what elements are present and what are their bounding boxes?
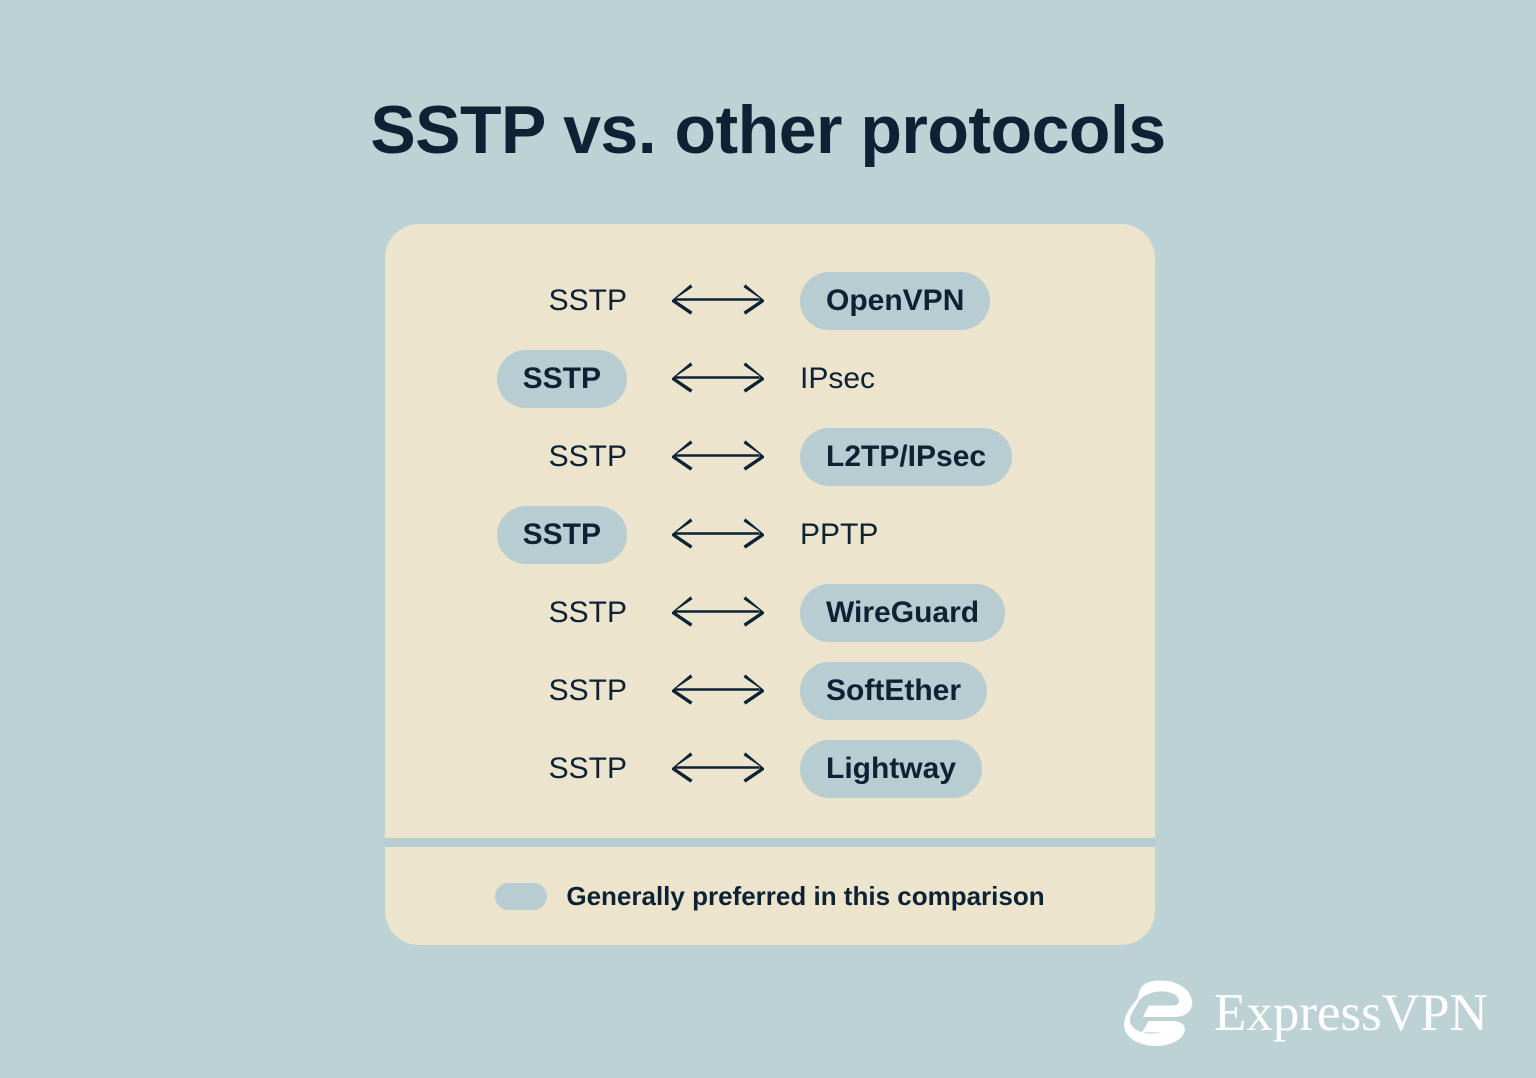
double-headed-arrow-icon <box>672 440 764 474</box>
double-headed-arrow-icon <box>672 518 764 552</box>
comparison-row-left-cell: SSTP <box>385 272 635 330</box>
legend: Generally preferred in this comparison <box>385 847 1155 945</box>
comparison-row-list: SSTPOpenVPNSSTPIPsecSSTPL2TP/IPsecSSTPPP… <box>385 224 1155 808</box>
comparison-row-right-cell: SoftEther <box>800 662 1155 720</box>
comparison-row: SSTPWireGuard <box>385 574 1155 652</box>
double-headed-arrow-icon <box>672 752 764 786</box>
pill-swatch-icon <box>495 883 547 910</box>
protocol-chip: IPsec <box>800 350 875 408</box>
protocol-chip: SSTP <box>549 662 627 720</box>
comparison-row-arrow-cell <box>635 362 800 396</box>
comparison-row-left-cell: SSTP <box>385 740 635 798</box>
comparison-row-arrow-cell <box>635 518 800 552</box>
comparison-row-left-cell: SSTP <box>385 350 635 408</box>
comparison-row: SSTPL2TP/IPsec <box>385 418 1155 496</box>
protocol-chip-preferred: OpenVPN <box>800 272 990 330</box>
expressvpn-logo: ExpressVPN <box>1124 980 1488 1046</box>
comparison-row: SSTPIPsec <box>385 340 1155 418</box>
comparison-row-left-cell: SSTP <box>385 662 635 720</box>
expressvpn-wordmark: ExpressVPN <box>1214 987 1488 1040</box>
comparison-row-left-cell: SSTP <box>385 506 635 564</box>
comparison-row-arrow-cell <box>635 674 800 708</box>
comparison-row-arrow-cell <box>635 284 800 318</box>
protocol-chip-preferred: WireGuard <box>800 584 1005 642</box>
comparison-row-arrow-cell <box>635 752 800 786</box>
protocol-chip-preferred: L2TP/IPsec <box>800 428 1012 486</box>
double-headed-arrow-icon <box>672 284 764 318</box>
comparison-row-right-cell: OpenVPN <box>800 272 1155 330</box>
comparison-row-right-cell: IPsec <box>800 350 1155 408</box>
protocol-chip: SSTP <box>549 272 627 330</box>
legend-divider <box>385 838 1155 847</box>
protocol-chip: SSTP <box>549 740 627 798</box>
protocol-chip-preferred: Lightway <box>800 740 982 798</box>
double-headed-arrow-icon <box>672 596 764 630</box>
comparison-row: SSTPOpenVPN <box>385 262 1155 340</box>
legend-label: Generally preferred in this comparison <box>566 881 1044 912</box>
protocol-chip-preferred: SSTP <box>497 506 627 564</box>
comparison-card: SSTPOpenVPNSSTPIPsecSSTPL2TP/IPsecSSTPPP… <box>385 224 1155 945</box>
comparison-row-left-cell: SSTP <box>385 584 635 642</box>
comparison-row-right-cell: Lightway <box>800 740 1155 798</box>
comparison-row-right-cell: PPTP <box>800 506 1155 564</box>
comparison-row-right-cell: L2TP/IPsec <box>800 428 1155 486</box>
protocol-chip-preferred: SSTP <box>497 350 627 408</box>
protocol-chip: SSTP <box>549 584 627 642</box>
comparison-row: SSTPLightway <box>385 730 1155 808</box>
comparison-row-left-cell: SSTP <box>385 428 635 486</box>
protocol-chip-preferred: SoftEther <box>800 662 987 720</box>
comparison-row-arrow-cell <box>635 596 800 630</box>
expressvpn-e-mark-icon <box>1124 980 1196 1046</box>
protocol-chip: SSTP <box>549 428 627 486</box>
page-title: SSTP vs. other protocols <box>0 93 1536 168</box>
double-headed-arrow-icon <box>672 674 764 708</box>
comparison-row-arrow-cell <box>635 440 800 474</box>
comparison-row: SSTPSoftEther <box>385 652 1155 730</box>
comparison-row: SSTPPPTP <box>385 496 1155 574</box>
protocol-chip: PPTP <box>800 506 878 564</box>
comparison-row-right-cell: WireGuard <box>800 584 1155 642</box>
double-headed-arrow-icon <box>672 362 764 396</box>
